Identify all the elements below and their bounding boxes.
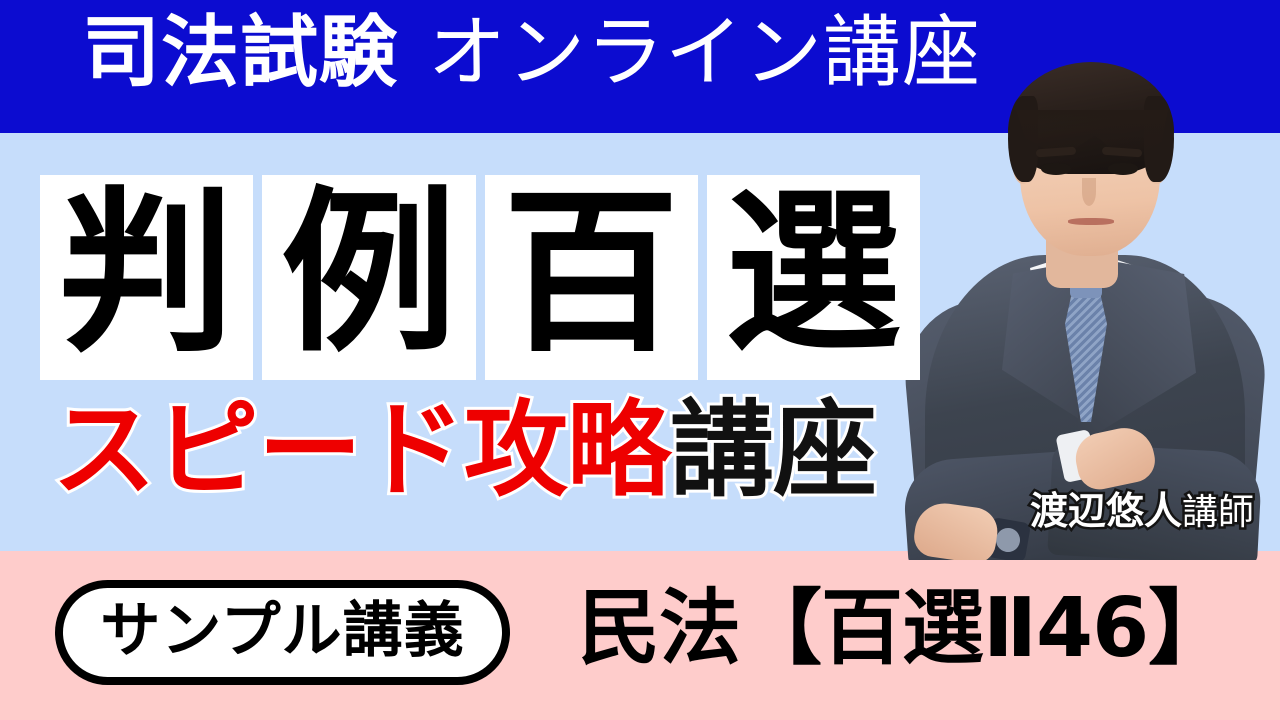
kanji-tile-3-char: 百	[503, 186, 679, 362]
sample-lecture-badge-label: サンプル講義	[100, 601, 464, 661]
instructor-name-strong: 渡辺悠人	[1030, 489, 1182, 533]
kanji-tile-4-char: 選	[725, 186, 901, 362]
kanji-tile-2: 例	[262, 175, 475, 380]
hero-subtitle-black: 講座	[670, 389, 876, 511]
portrait-eye-left	[1041, 163, 1071, 175]
portrait-nose	[1082, 178, 1096, 206]
hero-subtitle-red: スピード攻略	[52, 389, 670, 511]
portrait-mouth	[1068, 218, 1114, 225]
kanji-tile-1-char: 判	[59, 186, 235, 362]
sample-lecture-badge[interactable]: サンプル講義	[55, 580, 510, 685]
kanji-tile-2-char: 例	[281, 186, 457, 362]
banner-title-strong: 司法試験	[82, 8, 398, 98]
instructor-name-caption: 渡辺悠人講師	[1030, 492, 1254, 531]
kanji-tile-4: 選	[707, 175, 920, 380]
thumbnail-canvas: 司法試験オンライン講座 判	[0, 0, 1280, 720]
instructor-name-suffix: 講師	[1182, 492, 1254, 533]
portrait-eye-right	[1108, 163, 1138, 175]
banner-headline: 司法試験オンライン講座	[82, 14, 981, 92]
kanji-tile-row: 判 例 百 選	[40, 175, 920, 380]
banner-title-light: オンライン講座	[428, 8, 981, 98]
kanji-tile-1: 判	[40, 175, 253, 380]
hero-subtitle: スピード攻略講座	[52, 398, 876, 502]
kanji-tile-3: 百	[485, 175, 698, 380]
lecture-title: 民法【百選Ⅱ46】	[578, 578, 1229, 681]
